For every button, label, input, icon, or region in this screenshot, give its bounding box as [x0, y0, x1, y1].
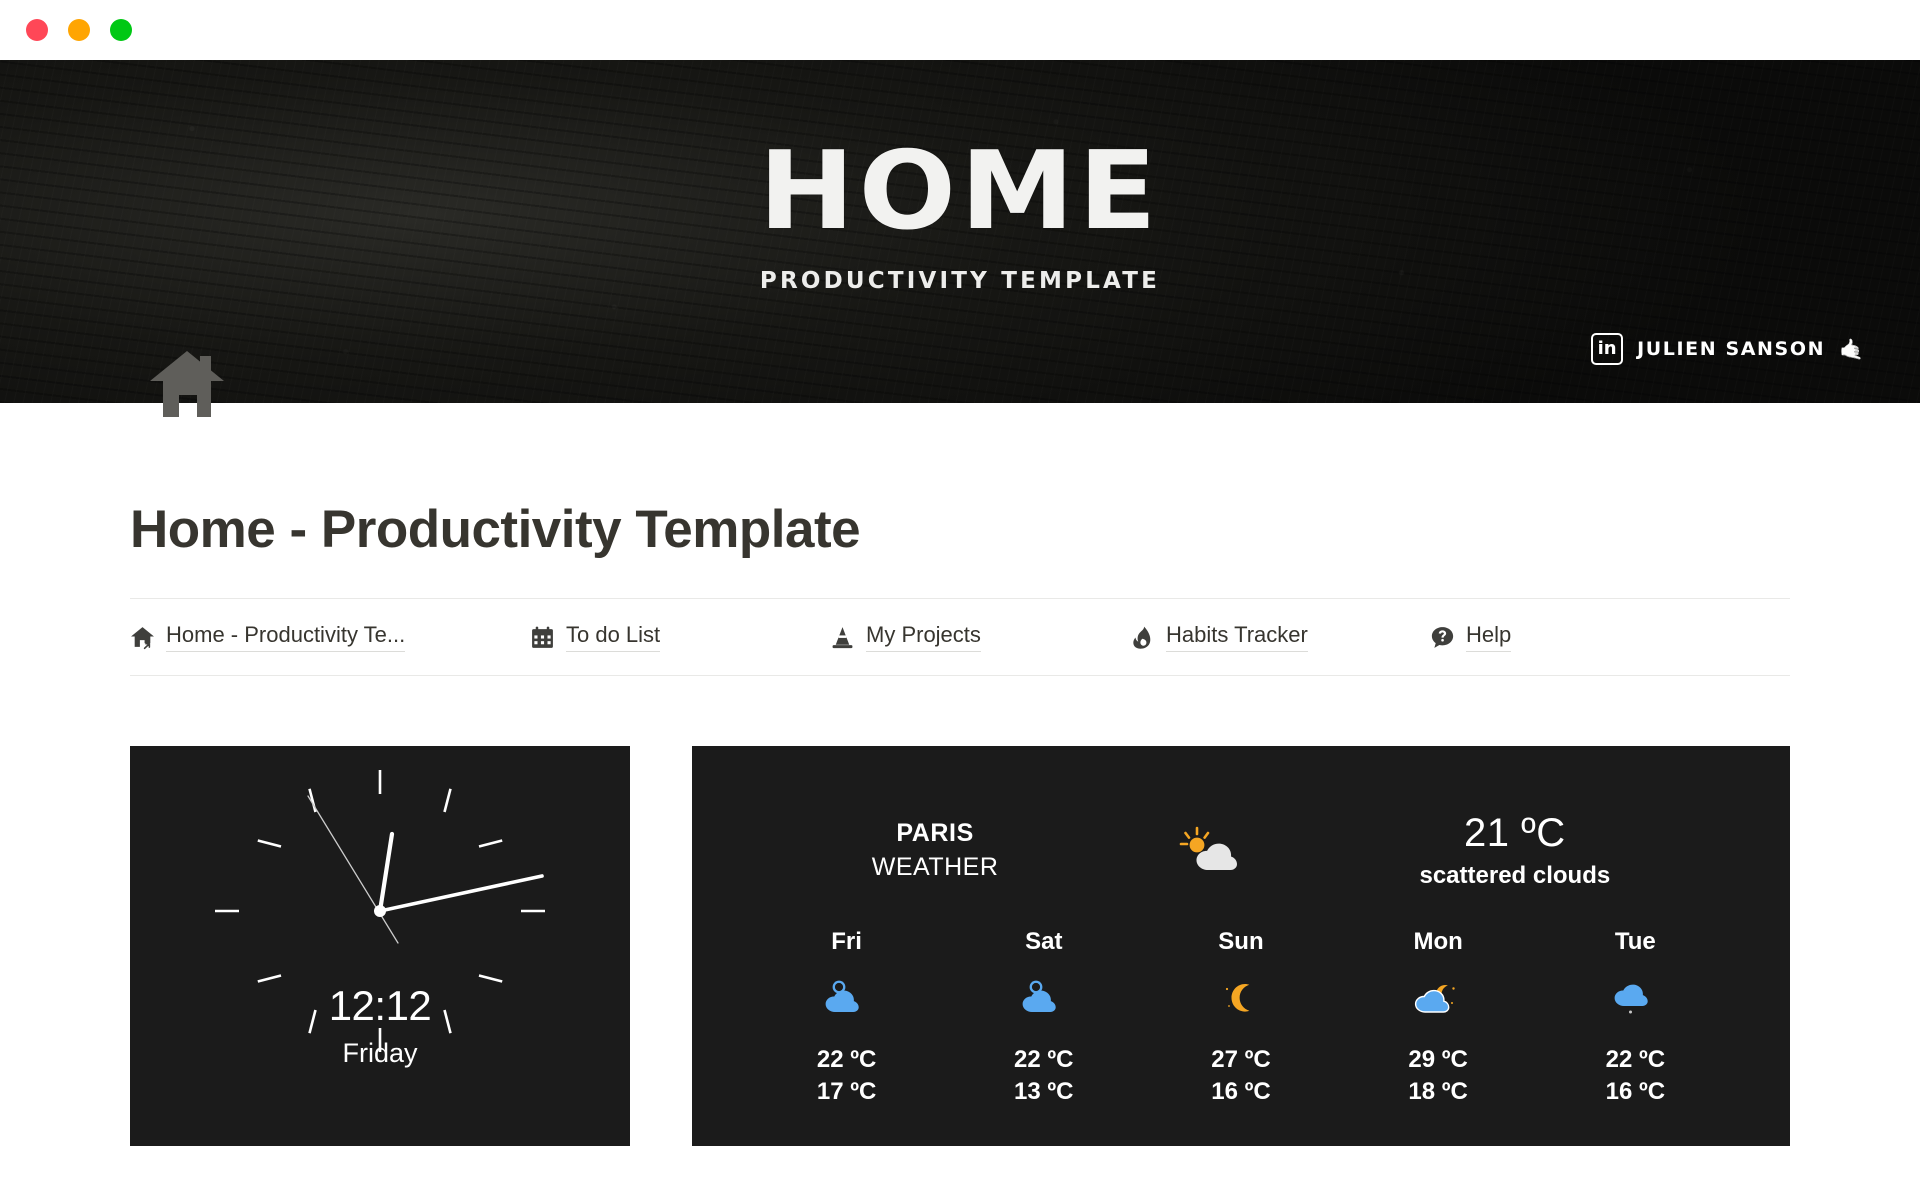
- forecast-icon-wrap: [1166, 976, 1316, 1024]
- window-maximize-button[interactable]: [110, 19, 132, 41]
- weather-current-row: PARIS WEATHER 21 ºC scattered clouds: [692, 790, 1790, 910]
- forecast-day: Fri 22 ºC 17 ºC: [772, 928, 922, 1106]
- nav-label-habits-tracker: Habits Tracker: [1166, 622, 1308, 652]
- forecast-day-name: Mon: [1363, 928, 1513, 956]
- forecast-icon-wrap: [1560, 976, 1710, 1024]
- forecast-low: 16 ºC: [1560, 1078, 1710, 1106]
- forecast-high: 27 ºC: [1166, 1046, 1316, 1074]
- calendar-icon: [530, 625, 555, 650]
- weather-city-name: PARIS: [872, 819, 999, 848]
- window-titlebar: [0, 0, 1920, 60]
- clock-minute-hand: [380, 876, 542, 911]
- forecast-low: 16 ºC: [1166, 1078, 1316, 1106]
- banner-subtitle: PRODUCTIVITY TEMPLATE: [760, 268, 1160, 294]
- rain-cloud-icon: [1609, 976, 1661, 1018]
- nav-tab-bar: Home - Productivity Te... To do List: [130, 599, 1790, 676]
- nav-item-todo-list[interactable]: To do List: [530, 622, 830, 652]
- nav-label-my-projects: My Projects: [866, 622, 981, 652]
- forecast-day-name: Fri: [772, 928, 922, 956]
- cloud-icon: [821, 976, 873, 1018]
- forecast-icon-wrap: [1363, 976, 1513, 1024]
- forecast-high: 22 ºC: [772, 1046, 922, 1074]
- forecast-day-name: Sat: [969, 928, 1119, 956]
- banner-title: HOME: [759, 138, 1161, 246]
- forecast-day: Sat 22 ºC 13 ºC: [969, 928, 1119, 1106]
- nav-item-habits-tracker[interactable]: Habits Tracker: [1130, 622, 1430, 652]
- widgets-row: 12:12 Friday PARIS WEATHER: [130, 746, 1920, 1146]
- clock-widget[interactable]: 12:12 Friday: [130, 746, 630, 1146]
- forecast-day-name: Tue: [1560, 928, 1710, 956]
- forecast-high: 22 ºC: [1560, 1046, 1710, 1074]
- cloud-icon: [1018, 976, 1070, 1018]
- forecast-day: Mon 29 ºC 18 ºC: [1363, 928, 1513, 1106]
- nav-item-help[interactable]: Help: [1430, 622, 1511, 652]
- clock-time-label: 12:12: [130, 982, 630, 1030]
- clock-face: [130, 746, 630, 1146]
- window-close-button[interactable]: [26, 19, 48, 41]
- weather-city-sublabel: WEATHER: [872, 853, 999, 882]
- nav-item-my-projects[interactable]: My Projects: [830, 622, 1130, 652]
- forecast-icon-wrap: [772, 976, 922, 1024]
- traffic-cone-icon: [830, 625, 855, 650]
- forecast-low: 17 ºC: [772, 1078, 922, 1106]
- forecast-high: 29 ºC: [1363, 1046, 1513, 1074]
- cloud-moon-icon: [1412, 976, 1464, 1018]
- hand-icon: 🤙: [1839, 337, 1864, 362]
- forecast-day-name: Sun: [1166, 928, 1316, 956]
- weather-current-temp: 21 ºC: [1419, 811, 1610, 856]
- window-minimize-button[interactable]: [68, 19, 90, 41]
- clock-hour-hand: [380, 834, 392, 911]
- weather-current-desc: scattered clouds: [1419, 862, 1610, 890]
- forecast-day: Sun 27 ºC 16 ºC: [1166, 928, 1316, 1106]
- forecast-low: 18 ºC: [1363, 1078, 1513, 1106]
- clock-day-label: Friday: [130, 1038, 630, 1069]
- forecast-low: 13 ºC: [969, 1078, 1119, 1106]
- house-arrow-icon: [130, 625, 155, 650]
- nav-item-home[interactable]: Home - Productivity Te...: [130, 622, 530, 652]
- page-cover-banner: HOME PRODUCTIVITY TEMPLATE in JULIEN SAN…: [0, 60, 1920, 403]
- clock-center-pin: [374, 905, 386, 917]
- forecast-high: 22 ºC: [969, 1046, 1119, 1074]
- nav-label-home: Home - Productivity Te...: [166, 622, 405, 652]
- question-bubble-icon: [1430, 625, 1455, 650]
- crescent-moon-icon: [1215, 976, 1267, 1018]
- page-house-icon[interactable]: [148, 348, 226, 420]
- sun-behind-cloud-icon: [1178, 826, 1240, 874]
- forecast-day: Tue 22 ºC 16 ºC: [1560, 928, 1710, 1106]
- weather-current: 21 ºC scattered clouds: [1419, 811, 1610, 890]
- forecast-icon-wrap: [969, 976, 1119, 1024]
- weather-forecast-row: Fri 22 ºC 17 ºC Sat: [692, 910, 1790, 1106]
- weather-location: PARIS WEATHER: [872, 819, 999, 882]
- nav-label-help: Help: [1466, 622, 1511, 652]
- nav-label-todo-list: To do List: [566, 622, 660, 652]
- page-title: Home - Productivity Template: [130, 499, 1920, 560]
- credit-author-name: JULIEN SANSON: [1637, 338, 1825, 360]
- weather-widget[interactable]: PARIS WEATHER 21 ºC scattered clouds: [692, 746, 1790, 1146]
- banner-credit: in JULIEN SANSON 🤙: [1591, 333, 1864, 365]
- linkedin-icon[interactable]: in: [1591, 333, 1623, 365]
- flame-icon: [1130, 625, 1155, 650]
